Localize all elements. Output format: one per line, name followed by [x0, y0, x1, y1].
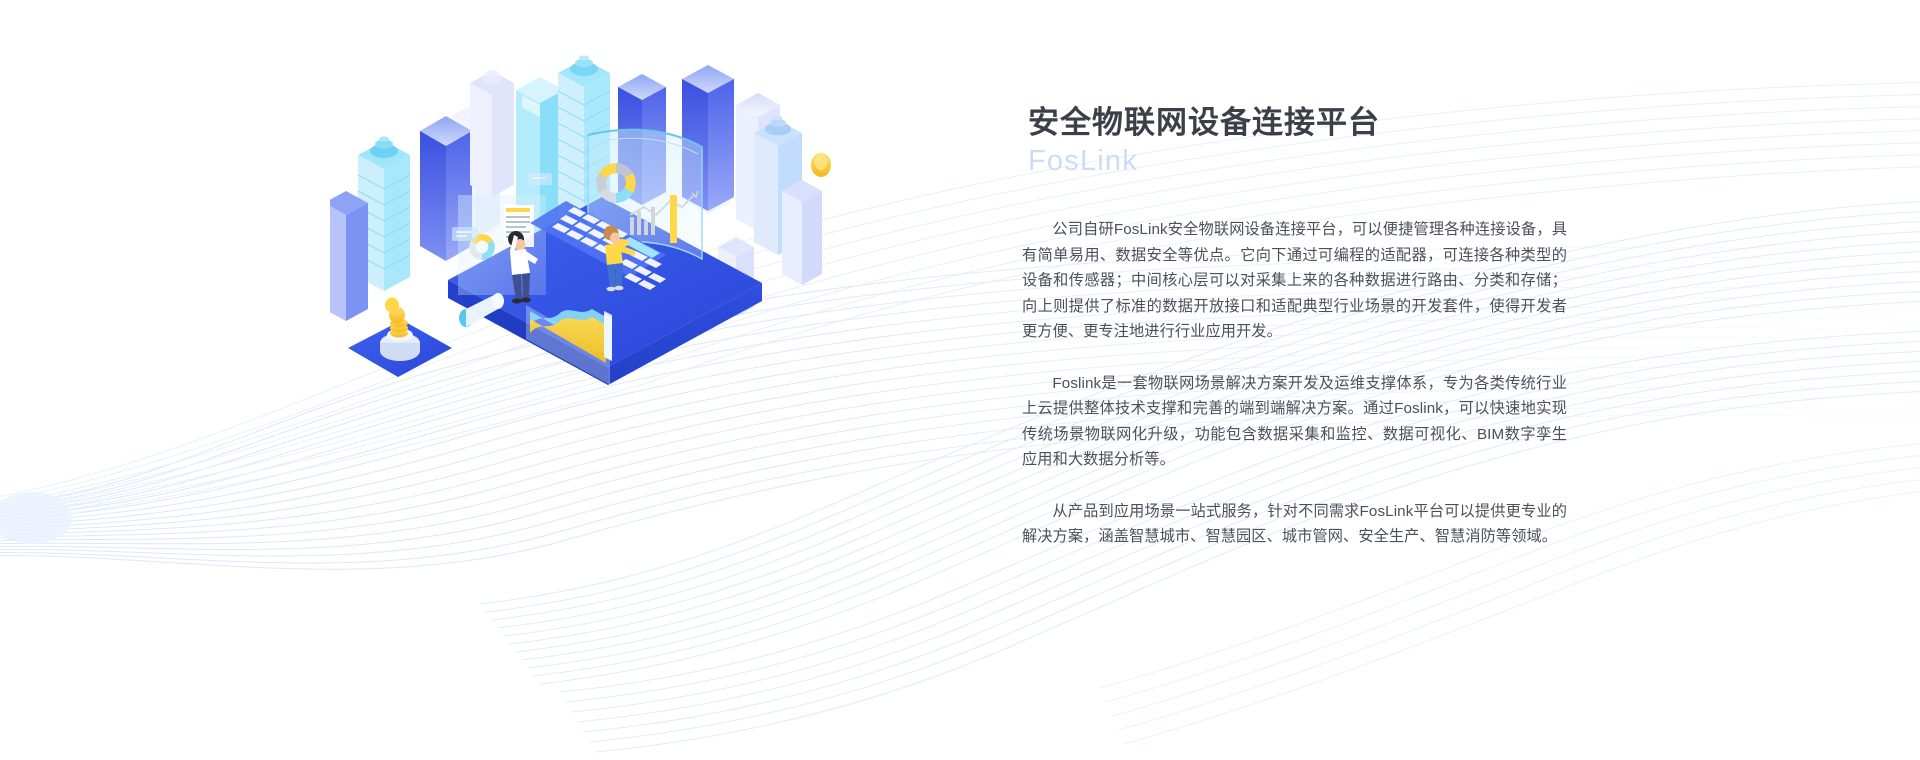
page-subtitle: FosLink [1028, 143, 1567, 179]
coin-on-pedestal-right [811, 153, 831, 177]
paragraph-1: 公司自研FosLink安全物联网设备连接平台，可以便捷管理各种连接设备，具有简单… [1022, 217, 1567, 345]
panel-message-icon [452, 227, 478, 241]
content-column: 安全物联网设备连接平台 FosLink 公司自研FosLink安全物联网设备连接… [1022, 104, 1567, 550]
description-paragraphs: 公司自研FosLink安全物联网设备连接平台，可以便捷管理各种连接设备，具有简单… [1022, 217, 1567, 550]
building-pale-violet [470, 70, 514, 197]
isometric-smart-city-illustration [330, 55, 850, 385]
background-wave-lines-left [0, 0, 1920, 760]
building-pale-bottom-right [782, 180, 822, 285]
background-wave-lines-right [0, 0, 1920, 760]
page-title: 安全物联网设备连接平台 [1028, 104, 1567, 141]
building-blue-far-left [330, 191, 368, 321]
paragraph-3: 从产品到应用场景一站式服务，针对不同需求FosLink平台可以提供更专业的解决方… [1022, 499, 1567, 550]
area-chart-widget [526, 305, 612, 385]
paragraph-2: Foslink是一套物联网场景解决方案开发及运维支撑体系，专为各类传统行业上云提… [1022, 371, 1567, 473]
panel-tag-icon [528, 173, 552, 185]
foslink-product-page: 安全物联网设备连接平台 FosLink 公司自研FosLink安全物联网设备连接… [0, 0, 1920, 760]
